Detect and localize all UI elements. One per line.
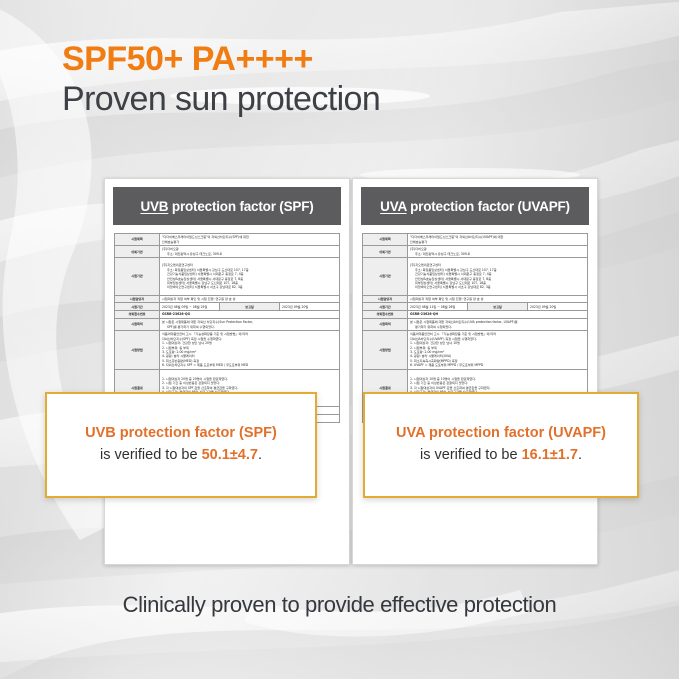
row-line: 6. UVAPF = 제품 도포부위 MPPD / 무도포부위 MPPD (410, 363, 585, 367)
row-value: (주)더비오광주소: 대전광역시 유성구 테크노로, 309-8 (160, 246, 340, 258)
uvapf-header-underlined: UVA (380, 199, 406, 214)
row-label: 시험방법 (115, 331, 160, 370)
uvapf-header-rest: protection factor (UVAPF) (407, 199, 570, 214)
report-row: 시험방법식품의약품안전처 고시 「기능성화장품 기준 및 시험방법」에 따라자외… (115, 331, 340, 370)
uvapf-callout-statement: is verified to be 16.1±1.7. (420, 445, 582, 467)
row-value: "더더비베스우래타이필드선스크림"의 자외선A차단지수(UVAPF)에 대한인체… (408, 234, 588, 246)
spf-callout-suffix: . (258, 447, 262, 463)
row-label: 시험담당자 (363, 295, 408, 303)
row-label: 시험기간 (363, 303, 408, 311)
row-line: 인체효능평가 (162, 240, 337, 244)
row-label: 시험제목 (363, 234, 408, 246)
row-value-2: 2023년 09월 20일 (280, 303, 340, 311)
report-row: 시험기간2023년 08월 11일 ~ 08월 26일보고일2023년 09월 … (363, 303, 588, 311)
headline-block: SPF50+ PA++++ Proven sun protection (62, 40, 622, 119)
report-row: 시험제목"더더비베스우래타이필드선스크림"의 자외선차단지수(SPF)에 대한인… (115, 234, 340, 246)
uvapf-callout-value: 16.1±1.7 (522, 447, 578, 463)
report-row: 시험방법식품의약품안전처 고시 「기능성화장품 기준 및 시험방법」에 따라자외… (363, 331, 588, 370)
uvapf-result-callout: UVA protection factor (UVAPF) is verifie… (363, 392, 639, 498)
documents-area: UVB protection factor (SPF) 시험제목"더더비베스우래… (0, 178, 679, 568)
row-line: 6. 자외선차단지수 SPF = 제품 도포부위 MED / 무도포부위 MED (162, 363, 337, 367)
headline-subtitle: Proven sun protection (62, 80, 622, 119)
row-label: 시험기관 (115, 258, 160, 295)
row-value: GSRB-23626-QG (160, 311, 340, 319)
report-row: 의뢰기관(주)더비오광주소: 대전광역시 유성구 테크노로, 309-8 (363, 246, 588, 258)
row-value: 식품의약품안전처 고시 「기능성화장품 기준 및 시험방법」에 따라자외선A차단… (408, 331, 588, 370)
report-row: 의뢰기관(주)더비오광주소: 대전광역시 유성구 테크노로, 309-8 (115, 246, 340, 258)
spf-report-document: UVB protection factor (SPF) 시험제목"더더비베스우래… (104, 178, 350, 565)
uvapf-callout-prefix: is verified to be (420, 447, 522, 463)
row-value: 시험대상자 직접 여부 확인 및 시험 진행: 연구원 양 효 성 (160, 295, 340, 303)
row-line: 평가하기 위하여 수행되었다. (410, 325, 585, 329)
row-value-2: 2023년 09월 20일 (528, 303, 588, 311)
spf-callout-title: UVB protection factor (SPF) (85, 423, 277, 445)
uvapf-callout-suffix: . (578, 447, 582, 463)
row-label: 의뢰접수번호 (115, 311, 160, 319)
spf-report-header: UVB protection factor (SPF) (113, 187, 341, 225)
report-row: 시험기관(주)지오엔의료연구센터주소: 화장품임상센터) 서울특별시 강남구 도… (115, 258, 340, 295)
report-row: 시험기간2023년 08월 09일 ~ 08월 25일보고일2023년 09월 … (115, 303, 340, 311)
row-label: 시험목적 (115, 318, 160, 330)
row-line: 시험대상자 직접 여부 확인 및 시험 진행: 연구원 양 효 성 (410, 297, 585, 301)
row-line: 미앙바이오연구센터) 서울특별시 서초구 강남대로 82, 3층 (162, 285, 337, 289)
row-value: 본 시험은 시험제품에 대한 자외선 차단지수(Sun Protection F… (160, 318, 340, 330)
row-label: 시험기간 (115, 303, 160, 311)
row-line: GSRB-23626-QH (410, 312, 585, 316)
row-label-2: 보고일 (220, 303, 280, 311)
row-line: SPF)를 평가하기 위하여 수행되었다. (162, 325, 337, 329)
row-label: 시험목적 (363, 318, 408, 330)
report-row: 시험담당자시험대상자 직접 여부 확인 및 시험 진행: 연구원 양 효 성 (363, 295, 588, 303)
report-row: 시험목적본 시험은 시험제품에 대한 자외선 차단지수(Sun Protecti… (115, 318, 340, 330)
row-line: 미앙바이오연구센터) 서울특별시 서초구 강남대로 82, 3층 (410, 285, 585, 289)
report-row: 시험담당자시험대상자 직접 여부 확인 및 시험 진행: 연구원 양 효 성 (115, 295, 340, 303)
row-value: (주)지오엔의료연구센터주소: 화장품임상센터) 서울특별시 강남구 도산대로 … (408, 258, 588, 295)
row-label: 의뢰기관 (363, 246, 408, 258)
row-value: 본 시험은 시험제품에 대한 자외선A차단지수(UVA protection f… (408, 318, 588, 330)
bottom-caption: Clinically proven to provide effective p… (0, 592, 679, 618)
headline-spf-rating: SPF50+ PA++++ (62, 40, 622, 78)
spf-callout-value: 50.1±4.7 (202, 447, 258, 463)
row-label: 의뢰기관 (115, 246, 160, 258)
spf-result-callout: UVB protection factor (SPF) is verified … (45, 392, 317, 498)
uvapf-report-document: UVA protection factor (UVAPF) 시험제목"더더비베스… (352, 178, 598, 565)
row-line: 주소: 대전광역시 유성구 테크노로, 309-8 (162, 252, 337, 256)
report-row: 시험제목"더더비베스우래타이필드선스크림"의 자외선A차단지수(UVAPF)에 … (363, 234, 588, 246)
row-value: 2023년 08월 09일 ~ 08월 25일 (160, 303, 220, 311)
row-line: 인체효능평가 (410, 240, 585, 244)
row-label: 시험기관 (363, 258, 408, 295)
row-value: 2023년 08월 11일 ~ 08월 26일 (408, 303, 468, 311)
row-value: 식품의약품안전처 고시 「기능성화장품 기준 및 시험방법」에 따라자외선차단지… (160, 331, 340, 370)
row-value: (주)지오엔의료연구센터주소: 화장품임상센터) 서울특별시 강남구 도산대로 … (160, 258, 340, 295)
row-value: (주)더비오광주소: 대전광역시 유성구 테크노로, 309-8 (408, 246, 588, 258)
report-row: 의뢰접수번호GSRB-23626-QG (115, 311, 340, 319)
row-value: GSRB-23626-QH (408, 311, 588, 319)
row-line: 시험대상자 직접 여부 확인 및 시험 진행: 연구원 양 효 성 (162, 297, 337, 301)
row-value: "더더비베스우래타이필드선스크림"의 자외선차단지수(SPF)에 대한인체효능평… (160, 234, 340, 246)
row-value: 시험대상자 직접 여부 확인 및 시험 진행: 연구원 양 효 성 (408, 295, 588, 303)
row-line: GSRB-23626-QG (162, 312, 337, 316)
uvapf-callout-title: UVA protection factor (UVAPF) (396, 423, 606, 445)
row-label-2: 보고일 (468, 303, 528, 311)
row-label: 의뢰접수번호 (363, 311, 408, 319)
spf-header-underlined: UVB (140, 199, 168, 214)
spf-callout-statement: is verified to be 50.1±4.7. (100, 445, 262, 467)
spf-callout-prefix: is verified to be (100, 447, 202, 463)
report-row: 의뢰접수번호GSRB-23626-QH (363, 311, 588, 319)
row-label: 시험방법 (363, 331, 408, 370)
row-label: 시험제목 (115, 234, 160, 246)
row-line: 주소: 대전광역시 유성구 테크노로, 309-8 (410, 252, 585, 256)
row-label: 시험담당자 (115, 295, 160, 303)
report-row: 시험목적본 시험은 시험제품에 대한 자외선A차단지수(UVA protecti… (363, 318, 588, 330)
spf-header-rest: protection factor (SPF) (168, 199, 313, 214)
report-row: 시험기관(주)지오엔의료연구센터주소: 화장품임상센터) 서울특별시 강남구 도… (363, 258, 588, 295)
uvapf-report-header: UVA protection factor (UVAPF) (361, 187, 589, 225)
